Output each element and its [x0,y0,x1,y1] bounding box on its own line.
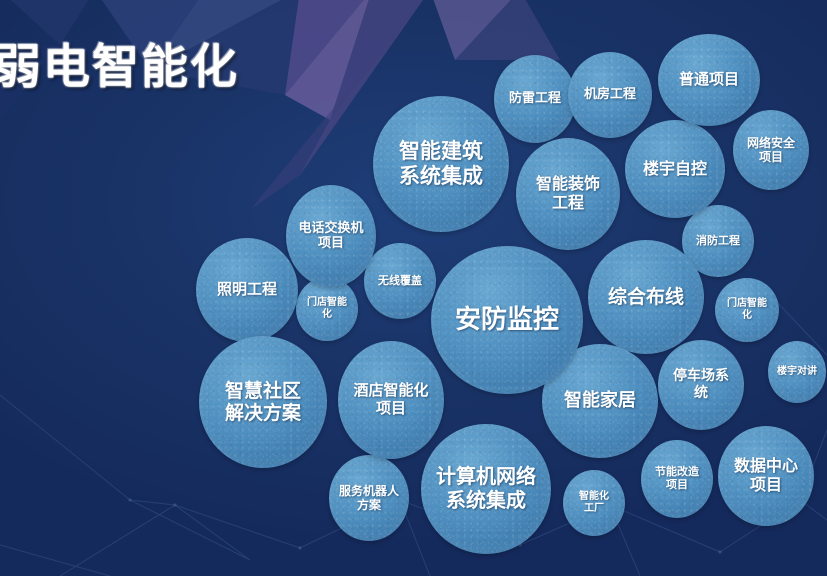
bubble-label: 综合布线 [608,286,684,308]
bubble-item[interactable]: 数据中心 项目 [718,426,814,526]
bubble-label: 楼宇自控 [643,160,707,179]
bubble-label: 智能家居 [564,390,636,411]
bubble-label: 安防监控 [455,305,559,336]
slide-canvas: 弱电智能化 智能建筑 系统集成防雷工程机房工程普通项目网络安全 项目楼宇自控智能… [0,0,827,576]
bubble-label: 智能装饰 工程 [536,175,600,213]
bubble-item[interactable]: 节能改造 项目 [641,440,713,518]
bubble-label: 服务机器人 方案 [339,484,399,512]
bubble-item[interactable]: 楼宇自控 [625,120,725,218]
bubble-item[interactable]: 停车场系 统 [658,340,744,430]
bubble-item[interactable]: 智能建筑 系统集成 [373,96,509,232]
bubble-label: 门店智能 化 [727,298,767,322]
bubble-label: 计算机网络 系统集成 [436,465,536,512]
bubble-label: 酒店智能化 项目 [353,382,428,417]
bubble-item[interactable]: 智能装饰 工程 [516,138,620,250]
bubble-item[interactable]: 酒店智能化 项目 [338,341,444,459]
page-title: 弱电智能化 [0,28,239,97]
bubble-item[interactable]: 无线覆盖 [364,243,436,319]
bubble-item[interactable]: 计算机网络 系统集成 [421,424,551,554]
bubble-item[interactable]: 照明工程 [196,238,298,342]
bubble-item[interactable]: 服务机器人 方案 [329,455,409,541]
bubble-label: 智能化 工厂 [579,491,609,515]
bubble-label: 照明工程 [217,281,277,299]
bubble-item[interactable]: 机房工程 [568,52,652,138]
bubble-label: 门店智能 化 [307,297,347,321]
bubble-item[interactable]: 综合布线 [588,240,704,354]
bubble-item[interactable]: 安防监控 [431,246,583,394]
bubble-label: 电话交换机 项目 [298,221,363,252]
bubble-label: 普通项目 [679,71,739,89]
bubble-item[interactable]: 楼宇对讲 [768,341,826,403]
bubble-label: 停车场系 统 [673,368,729,401]
bubble-label: 网络安全 项目 [747,136,795,164]
bubble-item[interactable]: 网络安全 项目 [733,110,809,190]
bubble-label: 智慧社区 解决方案 [225,380,301,425]
bubble-label: 节能改造 项目 [655,466,699,492]
bubble-item[interactable]: 普通项目 [658,34,760,126]
bubble-item[interactable]: 智能化 工厂 [563,470,625,536]
bubble-label: 机房工程 [584,87,636,102]
bubble-item[interactable]: 智慧社区 解决方案 [199,336,327,468]
bubble-label: 楼宇对讲 [777,366,817,378]
bubble-item[interactable]: 门店智能 化 [715,278,779,342]
bubble-label: 消防工程 [696,235,740,248]
bubble-item[interactable]: 防雷工程 [494,55,576,143]
bubble-label: 无线覆盖 [378,275,422,288]
bubble-label: 数据中心 项目 [734,457,798,495]
bubble-label: 防雷工程 [509,91,561,106]
bubble-label: 智能建筑 系统集成 [399,139,483,189]
bubble-item[interactable]: 电话交换机 项目 [286,185,376,287]
